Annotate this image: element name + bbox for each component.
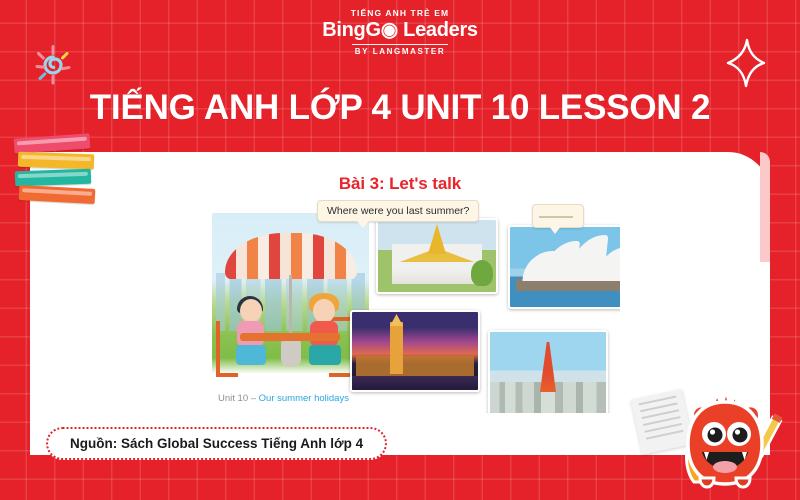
sydney-opera-house-photo <box>508 225 620 309</box>
brand-name-suffix: Leaders <box>398 19 478 41</box>
spiral-sun-doodle-icon <box>22 34 84 96</box>
tokyo-tower <box>540 342 556 392</box>
striped-umbrella-icon <box>225 233 357 279</box>
unit-caption: Unit 10 – Our summer holidays <box>212 393 369 404</box>
unit-caption-number: Unit 10 – <box>218 393 259 404</box>
cafe-illustration: Unit 10 – Our summer holidays <box>212 213 369 409</box>
four-point-sparkle-icon <box>726 38 766 88</box>
boy-legs <box>309 345 341 365</box>
cafe-table-base <box>281 341 301 367</box>
cafe-table <box>240 333 340 341</box>
speech-bubble-blank <box>532 204 584 228</box>
boy-head <box>313 299 335 323</box>
book-stack-icon <box>14 134 100 208</box>
thames-river <box>352 376 478 390</box>
brand-name: BingG◉ Leaders <box>0 20 800 40</box>
source-badge: Nguồn: Sách Global Success Tiếng Anh lớp… <box>46 427 387 460</box>
brand-o-mark-icon: ◉ <box>381 20 398 40</box>
brand-tagline-top: TIẾNG ANH TRẺ EM <box>0 9 800 18</box>
big-ben-london-photo <box>350 310 480 392</box>
brand-logo: TIẾNG ANH TRẺ EM BingG◉ Leaders BY LANGM… <box>0 9 800 56</box>
binggo-monster-mascot <box>664 382 786 500</box>
book-item <box>18 152 94 170</box>
book-item <box>19 185 96 204</box>
book-item <box>15 169 91 187</box>
page-title: TIẾNG ANH LỚP 4 UNIT 10 LESSON 2 <box>0 88 800 128</box>
speech-bubble-blank-line <box>539 216 573 218</box>
brand-tagline-bottom: BY LANGMASTER <box>0 48 800 56</box>
big-ben-spire <box>390 314 403 326</box>
girl-legs <box>236 345 266 365</box>
girl-head <box>240 299 262 323</box>
thai-temple-photo <box>376 218 498 294</box>
brand-name-prefix: BingG <box>322 19 381 41</box>
tokyo-tower-photo <box>488 330 608 413</box>
textbook-page-image: Unit 10 – Our summer holidays <box>180 200 620 413</box>
temple-spire <box>428 224 446 254</box>
temple-tree <box>471 260 493 286</box>
slide-canvas: TIẾNG ANH TRẺ EM BingG◉ Leaders BY LANGM… <box>0 0 800 500</box>
speech-bubble-question: Where were you last summer? <box>317 200 479 222</box>
unit-caption-topic: Our summer holidays <box>259 393 349 404</box>
parliament-building <box>356 356 474 378</box>
big-ben-tower <box>390 322 403 374</box>
lesson-subtitle: Bài 3: Let's talk <box>30 174 770 194</box>
brand-divider <box>352 44 448 45</box>
book-item <box>14 133 91 153</box>
